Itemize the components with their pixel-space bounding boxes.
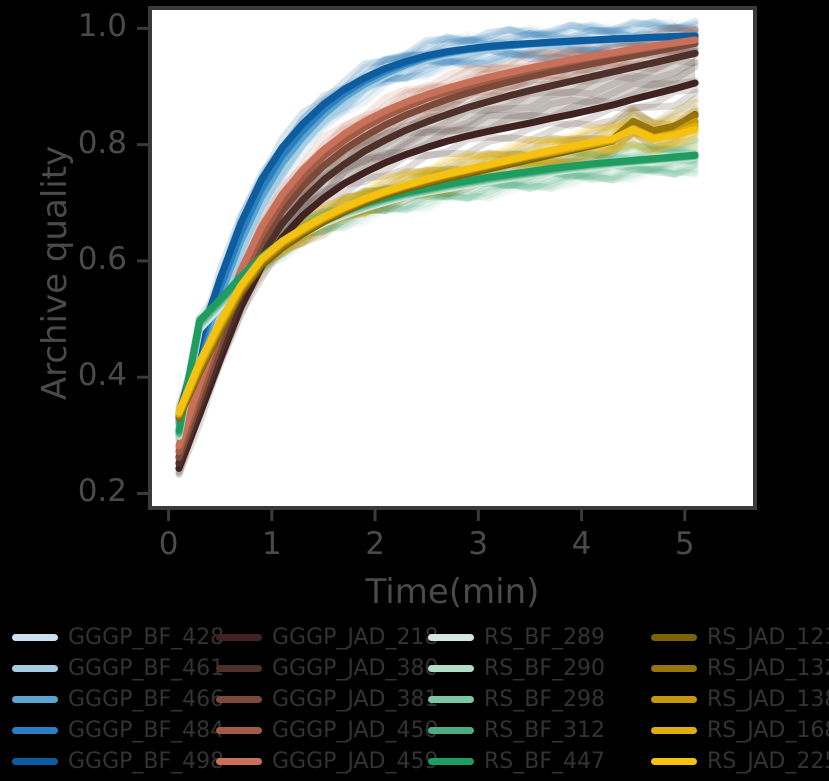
chart-legend: GGGP_BF_428GGGP_JAD_218RS_BF_289RS_JAD_1… xyxy=(0,622,829,781)
legend-item-label: GGGP_BF_428 xyxy=(68,627,224,649)
legend-item[interactable]: GGGP_BF_461 xyxy=(0,653,212,684)
legend-line-swatch xyxy=(651,665,697,672)
legend-line-swatch xyxy=(216,634,262,641)
legend-item[interactable]: RS_JAD_132 xyxy=(645,653,829,684)
legend-line-swatch xyxy=(651,758,697,765)
legend-item[interactable]: RS_BF_298 xyxy=(422,684,645,715)
legend-line-swatch xyxy=(216,727,262,734)
legend-line-swatch xyxy=(12,758,58,765)
legend-item[interactable]: GGGP_BF_484 xyxy=(0,715,212,746)
legend-item-label: RS_BF_447 xyxy=(484,751,605,773)
legend-item-label: RS_BF_290 xyxy=(484,658,605,680)
legend-item-label: RS_BF_298 xyxy=(484,689,605,711)
legend-line-swatch xyxy=(428,634,474,641)
legend-item-label: RS_JAD_132 xyxy=(707,658,829,680)
legend-item-label: GGGP_JAD_380 xyxy=(272,658,439,680)
y-tick-label: 1.0 xyxy=(47,8,127,44)
legend-item[interactable]: RS_BF_312 xyxy=(422,715,645,746)
chart-screenshot: Archive quality Time(min) 0.20.40.60.81.… xyxy=(0,0,829,781)
legend-item[interactable]: RS_BF_447 xyxy=(422,746,645,777)
legend-line-swatch xyxy=(428,665,474,672)
legend-item[interactable]: GGGP_JAD_381 xyxy=(212,684,422,715)
legend-item[interactable]: GGGP_JAD_459 xyxy=(212,746,422,777)
legend-item[interactable]: GGGP_BF_498 xyxy=(0,746,212,777)
legend-line-swatch xyxy=(12,665,58,672)
legend-item[interactable]: GGGP_JAD_218 xyxy=(212,622,422,653)
x-tick-label: 3 xyxy=(448,526,508,562)
legend-item-label: GGGP_BF_484 xyxy=(68,720,224,742)
legend-item-label: RS_JAD_225 xyxy=(707,751,829,773)
legend-line-swatch xyxy=(428,727,474,734)
legend-item[interactable]: RS_JAD_123 xyxy=(645,622,829,653)
figure-area: Archive quality Time(min) 0.20.40.60.81.… xyxy=(0,0,829,620)
legend-item-label: GGGP_JAD_459 xyxy=(272,751,439,773)
legend-item-label: GGGP_JAD_218 xyxy=(272,627,439,649)
y-tick-label: 0.2 xyxy=(47,473,127,509)
legend-item[interactable]: GGGP_JAD_380 xyxy=(212,653,422,684)
legend-line-swatch xyxy=(12,696,58,703)
legend-line-swatch xyxy=(12,634,58,641)
x-tick-label: 4 xyxy=(552,526,612,562)
legend-line-swatch xyxy=(216,758,262,765)
legend-item[interactable]: RS_JAD_225 xyxy=(645,746,829,777)
legend-item-label: GGGP_JAD_381 xyxy=(272,689,439,711)
legend-item-label: GGGP_BF_466 xyxy=(68,689,224,711)
legend-line-swatch xyxy=(651,696,697,703)
x-axis-label: Time(min) xyxy=(0,572,829,612)
legend-item-label: RS_JAD_168 xyxy=(707,720,829,742)
x-tick-label: 1 xyxy=(242,526,302,562)
legend-item-label: GGGP_JAD_450 xyxy=(272,720,439,742)
x-tick-label: 2 xyxy=(345,526,405,562)
y-tick-label: 0.4 xyxy=(47,357,127,393)
legend-item[interactable]: RS_JAD_138 xyxy=(645,684,829,715)
legend-item[interactable]: GGGP_JAD_450 xyxy=(212,715,422,746)
legend-item-label: RS_BF_289 xyxy=(484,627,605,649)
legend-item-label: RS_JAD_123 xyxy=(707,627,829,649)
legend-line-swatch xyxy=(651,727,697,734)
x-tick-label: 0 xyxy=(139,526,199,562)
legend-item[interactable]: GGGP_BF_428 xyxy=(0,622,212,653)
y-tick-label: 0.6 xyxy=(47,241,127,277)
legend-item-label: GGGP_BF_461 xyxy=(68,658,224,680)
y-tick-label: 0.8 xyxy=(47,125,127,161)
legend-item-label: RS_JAD_138 xyxy=(707,689,829,711)
x-tick-label: 5 xyxy=(655,526,715,562)
legend-item[interactable]: RS_JAD_168 xyxy=(645,715,829,746)
legend-item[interactable]: GGGP_BF_466 xyxy=(0,684,212,715)
legend-line-swatch xyxy=(216,665,262,672)
legend-line-swatch xyxy=(428,696,474,703)
legend-line-swatch xyxy=(12,727,58,734)
legend-item-label: RS_BF_312 xyxy=(484,720,605,742)
legend-item-label: GGGP_BF_498 xyxy=(68,751,224,773)
legend-line-swatch xyxy=(216,696,262,703)
legend-item[interactable]: RS_BF_290 xyxy=(422,653,645,684)
legend-line-swatch xyxy=(428,758,474,765)
legend-item[interactable]: RS_BF_289 xyxy=(422,622,645,653)
legend-line-swatch xyxy=(651,634,697,641)
